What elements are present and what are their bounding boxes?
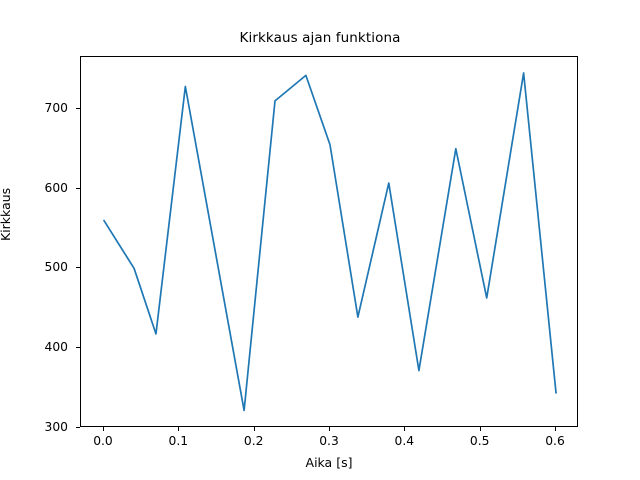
x-tick-label: 0.2 [224, 434, 284, 448]
x-tick-label: 0.6 [525, 434, 585, 448]
y-axis-label: Kirkkaus [0, 188, 13, 241]
data-line-svg [81, 57, 579, 428]
x-axis-label: Aika [s] [80, 455, 578, 470]
x-tick-label: 0.3 [299, 434, 359, 448]
plot-area [80, 56, 578, 427]
x-tick-label: 0.4 [374, 434, 434, 448]
x-tick-label: 0.1 [148, 434, 208, 448]
x-tick-label: 0.5 [450, 434, 510, 448]
brightness-line-series [104, 73, 556, 410]
x-tick-label: 0.0 [73, 434, 133, 448]
matplotlib-figure: Kirkkaus ajan funktiona 300400500600700 … [0, 0, 640, 480]
